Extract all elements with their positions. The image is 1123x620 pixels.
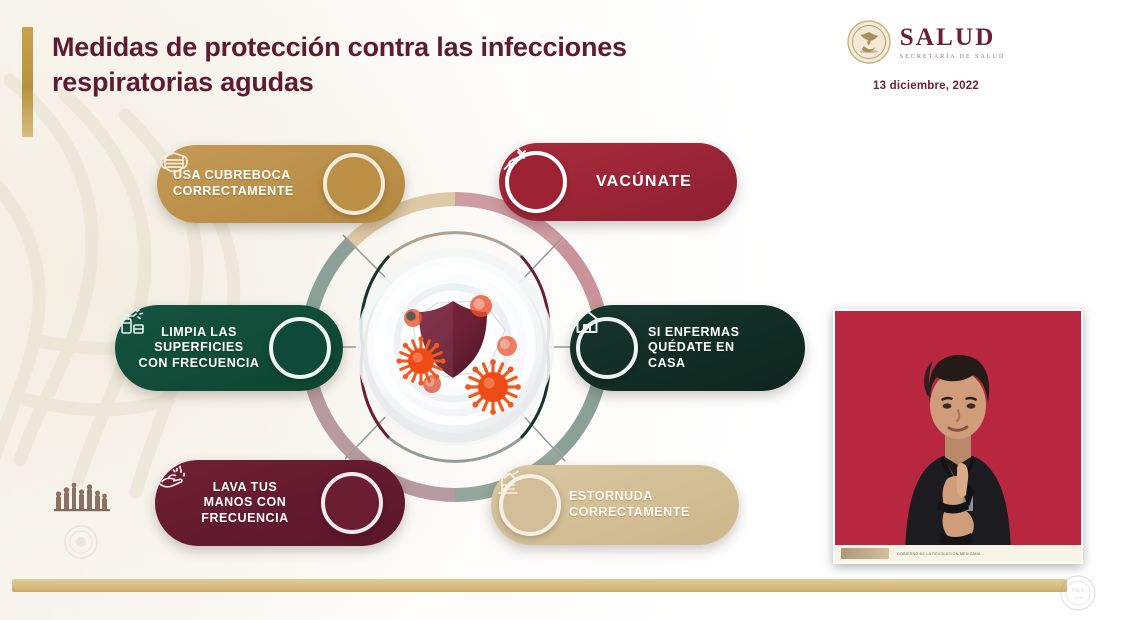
video-caption-bar: GOBIERNO DE LA REVOLUCIÓN MEXICANA [835,545,1081,562]
measure-label-wash-hands: LAVA TUS MANOS CON FRECUENCIA [169,480,321,527]
brand-block: SALUD SECRETARÍA DE SALUD 13 diciembre, … [811,20,1041,92]
video-caption-text: GOBIERNO DE LA REVOLUCIÓN MEXICANA [897,552,981,556]
measure-label-stay-home: SI ENFERMAS QUÉDATE EN CASA [638,325,793,372]
measure-label-mask: USA CUBREBOCA CORRECTAMENTE [173,168,323,199]
washing-hands-icon [321,472,383,534]
measure-label-sneeze: ESTORNUDA CORRECTAMENTE [561,489,733,520]
measure-pill-vaccine[interactable]: VACÚNATE [499,143,737,221]
bottom-gold-strip [12,579,1067,592]
measure-pill-mask[interactable]: USA CUBREBOCA CORRECTAMENTE [157,145,405,223]
measure-label-surfaces: LIMPIA LAS SUPERFICIES CON FRECUENCIA [129,325,269,372]
page-title: Medidas de protección contra las infecci… [52,30,752,100]
mexican-eagle-seal-icon [847,20,891,64]
measure-label-vaccine: VACÚNATE [567,172,721,192]
svg-text:GOB: GOB [1074,595,1083,600]
measure-pill-stay-home[interactable]: SI ENFERMAS QUÉDATE EN CASA [570,305,805,391]
sneeze-etiquette-icon [499,474,561,536]
face-mask-icon [323,153,385,215]
cleaning-spray-icon [269,317,331,379]
house-icon [576,317,638,379]
interpreter-figure [835,311,1081,562]
crowd-silhouette-icon [52,478,114,512]
infographic: USA CUBREBOCA CORRECTAMENTE [95,125,815,565]
slide-canvas: Medidas de protección contra las infecci… [0,0,1123,620]
sign-language-interpreter-video[interactable]: GOBIERNO DE LA REVOLUCIÓN MEXICANA [833,309,1083,564]
measure-pill-sneeze[interactable]: ESTORNUDA CORRECTAMENTE [491,465,739,545]
gold-accent-bar [22,27,33,137]
measure-pill-wash-hands[interactable]: LAVA TUS MANOS CON FRECUENCIA [155,460,405,546]
syringe-icon [505,151,567,213]
brand-subtitle: SECRETARÍA DE SALUD [900,53,1005,60]
circular-seal-watermark-icon: MEX GOB [1059,574,1097,612]
circular-seal-faint-icon [63,524,99,560]
measure-pill-surfaces[interactable]: LIMPIA LAS SUPERFICIES CON FRECUENCIA [115,305,343,391]
brand-name: SALUD [900,25,1005,50]
svg-text:MEX: MEX [1072,588,1084,594]
slide-date: 13 diciembre, 2022 [811,80,1041,92]
caption-logo-icon [841,548,889,559]
